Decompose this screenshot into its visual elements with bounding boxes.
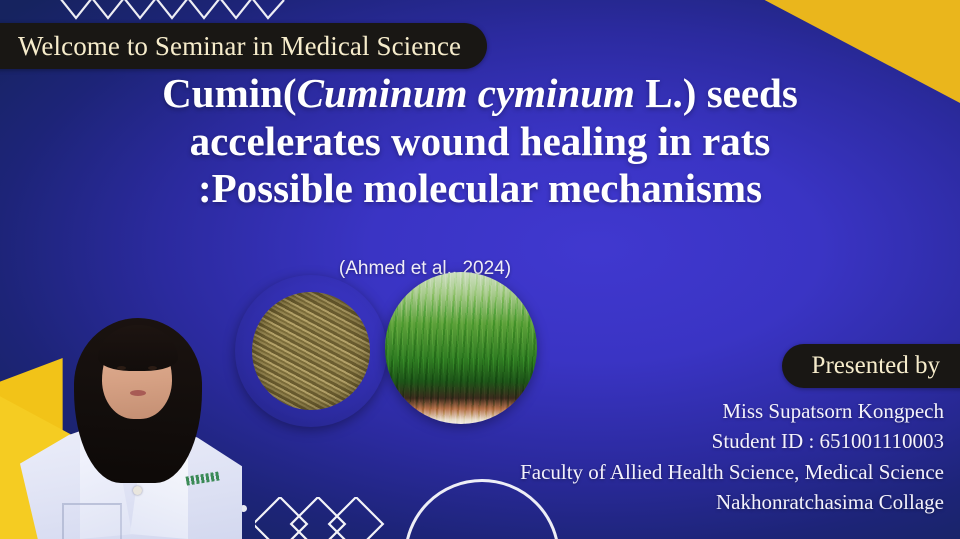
zigzag-icon <box>60 0 290 24</box>
presenter-details: Miss Supatsorn Kongpech Student ID : 651… <box>324 396 944 518</box>
presentation-slide: Welcome to Seminar in Medical Science Cu… <box>0 0 960 539</box>
title-line-2: accelerates wound healing in rats <box>0 118 960 166</box>
title-line-1: Cumin(Cuminum cyminum L.) seeds <box>0 70 960 118</box>
title-line-1-prefix: Cumin( <box>162 70 296 116</box>
cumin-seeds-image-content <box>252 292 371 411</box>
title-line-1-suffix: L.) seeds <box>635 70 798 116</box>
welcome-banner-text: Welcome to Seminar in Medical Science <box>18 31 461 62</box>
portrait-eye-right <box>148 366 157 370</box>
welcome-banner: Welcome to Seminar in Medical Science <box>0 23 487 69</box>
title-species-name: Cuminum cyminum <box>297 70 635 116</box>
presenter-student-id: Student ID : 651001110003 <box>324 426 944 456</box>
presenter-faculty: Faculty of Allied Health Science, Medica… <box>324 457 944 487</box>
portrait-lips <box>130 390 146 396</box>
portrait-eye-left <box>117 366 126 370</box>
presenter-portrait-image <box>18 269 243 539</box>
presenter-college: Nakhonratchasima Collage <box>324 487 944 517</box>
portrait-coat-pocket <box>62 503 122 539</box>
presenter-name: Miss Supatsorn Kongpech <box>324 396 944 426</box>
presented-by-banner: Presented by <box>782 344 960 388</box>
portrait-coat-button <box>133 486 142 495</box>
page-title: Cumin(Cuminum cyminum L.) seeds accelera… <box>0 70 960 213</box>
presented-by-label: Presented by <box>812 352 940 380</box>
title-line-3: :Possible molecular mechanisms <box>0 165 960 213</box>
